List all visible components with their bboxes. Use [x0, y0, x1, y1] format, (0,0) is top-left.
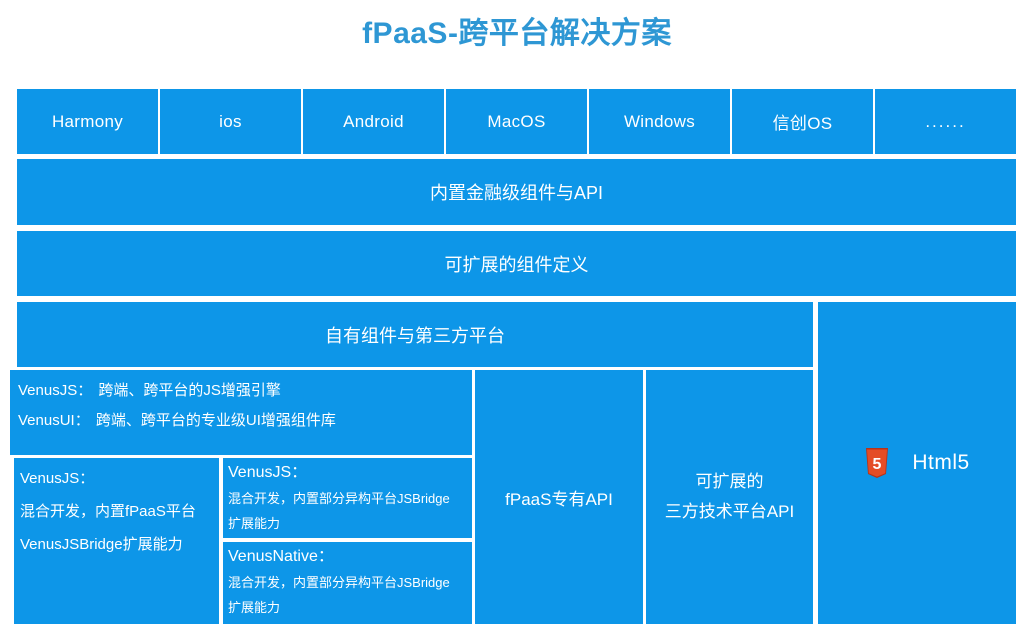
column-fpaas-proprietary-api[interactable]: fPaaS专有API	[475, 370, 643, 624]
venusjs-hybrid-fpaas-block[interactable]: VenusJS： 混合开发，内置fPaaS平台 VenusJSBridge扩展能…	[14, 458, 219, 624]
venus-js-value: 跨端、跨平台的JS增强引擎	[98, 382, 281, 399]
venus-js-key: VenusJS：	[18, 382, 92, 399]
block-line-1: 混合开发，内置部分异构平台JSBridge	[228, 570, 450, 595]
venusnative-hybrid-heterogeneous-block[interactable]: VenusNative： 混合开发，内置部分异构平台JSBridge 扩展能力	[223, 542, 472, 624]
venus-summary-line-js: VenusJS： 跨端、跨平台的JS增强引擎	[18, 376, 281, 406]
os-tile-windows[interactable]: Windows	[589, 89, 730, 154]
band-label: 可扩展的组件定义	[445, 251, 589, 277]
os-tile-label: MacOS	[487, 112, 545, 132]
column-label-line-2: 三方技术平台API	[665, 497, 794, 527]
os-tile-xinchuang-os[interactable]: 信创OS	[732, 89, 873, 154]
os-tile-label: Windows	[624, 112, 695, 132]
venusjs-hybrid-heterogeneous-block[interactable]: VenusJS： 混合开发，内置部分异构平台JSBridge 扩展能力	[223, 458, 472, 538]
block-line-1: 混合开发，内置部分异构平台JSBridge	[228, 486, 450, 511]
os-tile-more[interactable]: ......	[875, 89, 1016, 154]
os-tile-harmony[interactable]: Harmony	[17, 89, 158, 154]
os-tile-label: Android	[343, 112, 404, 132]
html5-label: Html5	[912, 451, 969, 475]
block-heading: VenusJS：	[228, 460, 307, 486]
svg-text:5: 5	[873, 456, 882, 473]
html5-badge-group: 5 Html5	[864, 448, 969, 478]
block-heading: VenusJS：	[20, 462, 94, 495]
venus-summary-block[interactable]: VenusJS： 跨端、跨平台的JS增强引擎 VenusUI： 跨端、跨平台的专…	[10, 370, 472, 455]
venus-ui-value: 跨端、跨平台的专业级UI增强组件库	[96, 412, 336, 429]
block-line-2: 扩展能力	[228, 595, 280, 620]
block-heading: VenusNative：	[228, 544, 334, 570]
band-extensible-component-definition[interactable]: 可扩展的组件定义	[17, 231, 1016, 296]
os-tile-macos[interactable]: MacOS	[446, 89, 587, 154]
os-tile-label: 信创OS	[773, 109, 833, 134]
column-label: fPaaS专有API	[505, 485, 613, 510]
venus-summary-line-ui: VenusUI： 跨端、跨平台的专业级UI增强组件库	[18, 406, 336, 436]
os-tile-label: ......	[925, 112, 965, 132]
os-platform-row: Harmony ios Android MacOS Windows 信创OS .…	[17, 89, 1016, 154]
band-own-and-third-party-platform[interactable]: 自有组件与第三方平台	[17, 302, 813, 367]
os-tile-label: ios	[219, 112, 242, 132]
column-html5[interactable]: 5 Html5	[818, 302, 1016, 624]
band-label: 自有组件与第三方平台	[325, 322, 505, 348]
page-title: fPaaS-跨平台解决方案	[0, 14, 1034, 54]
block-line-2: 扩展能力	[228, 511, 280, 536]
block-line-2: VenusJSBridge扩展能力	[20, 528, 183, 561]
os-tile-ios[interactable]: ios	[160, 89, 301, 154]
column-extensible-third-party-api[interactable]: 可扩展的 三方技术平台API	[646, 370, 813, 624]
venus-ui-key: VenusUI：	[18, 412, 90, 429]
block-line-1: 混合开发，内置fPaaS平台	[20, 495, 196, 528]
column-label-line-1: 可扩展的	[696, 467, 764, 497]
os-tile-android[interactable]: Android	[303, 89, 444, 154]
band-label: 内置金融级组件与API	[430, 179, 603, 205]
band-builtin-financial-components[interactable]: 内置金融级组件与API	[17, 159, 1016, 225]
html5-shield-icon: 5	[864, 448, 890, 478]
diagram-canvas: fPaaS-跨平台解决方案 Harmony ios Android MacOS …	[0, 0, 1034, 634]
os-tile-label: Harmony	[52, 112, 123, 132]
